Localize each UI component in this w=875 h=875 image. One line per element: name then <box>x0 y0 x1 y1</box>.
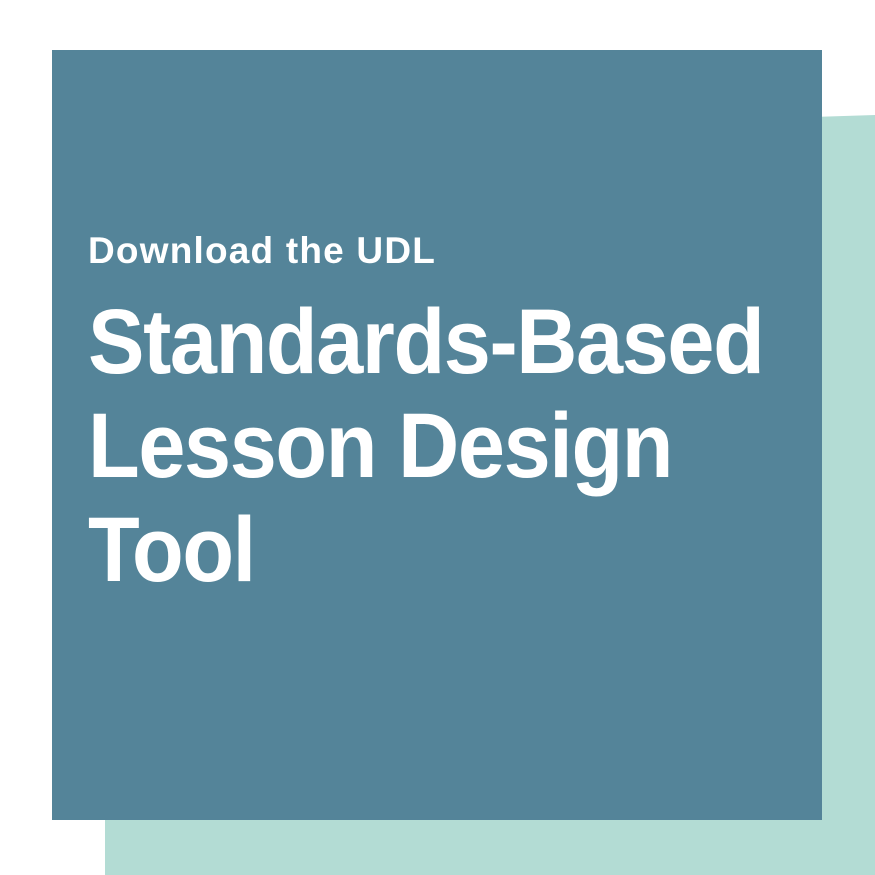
headline-line-3: Tool <box>88 499 732 603</box>
text-block: Download the UDL Standards-Based Lesson … <box>88 232 788 603</box>
headline-line-1: Standards-Based <box>88 291 732 395</box>
page-title: Standards-Based Lesson Design Tool <box>88 291 732 603</box>
headline-line-2: Lesson Design <box>88 395 732 499</box>
promo-card: Download the UDL Standards-Based Lesson … <box>0 0 875 875</box>
eyebrow-label: Download the UDL <box>88 232 788 269</box>
